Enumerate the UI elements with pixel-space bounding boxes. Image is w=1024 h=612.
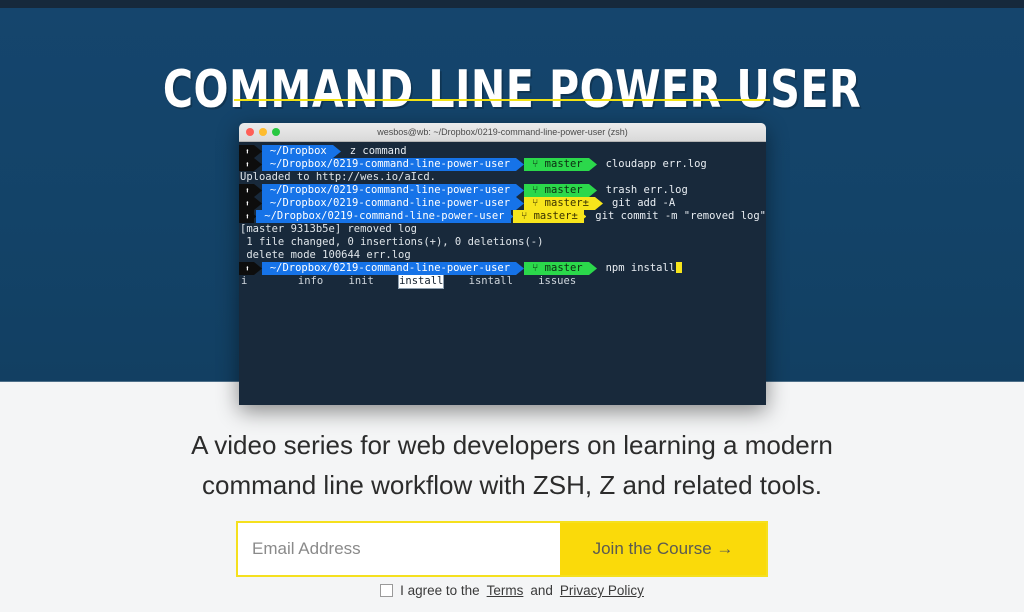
completion-gap [374, 275, 399, 287]
prompt-user-segment: ⬆ [239, 210, 254, 223]
prompt-user-segment: ⬆ [239, 145, 254, 158]
git-branch-label: master± [545, 197, 589, 210]
maximize-icon[interactable] [272, 128, 280, 136]
terms-checkbox[interactable] [380, 584, 393, 597]
terminal-output-line: [master 9313b5e] removed log [239, 223, 766, 236]
prompt-git-branch-segment: ⑂ master [524, 262, 589, 275]
powerline-arrow-icon [254, 197, 262, 210]
terminal-window: wesbos@wb: ~/Dropbox/0219-command-line-p… [239, 123, 766, 405]
terminal-user-icon: ⬆ [245, 262, 250, 275]
terminal-output-line: Uploaded to http://wes.io/aIcd. [239, 171, 766, 184]
powerline-arrow-icon [254, 145, 262, 158]
prompt-git-branch-segment: ⑂ master [524, 184, 589, 197]
completion-item[interactable]: isntall [469, 275, 513, 288]
minimize-icon[interactable] [259, 128, 267, 136]
terminal-prompt-line: ⬆~/Dropbox/0219-command-line-power-user⑂… [239, 197, 766, 210]
powerline-arrow-icon [254, 184, 262, 197]
terminal-window-title: wesbos@wb: ~/Dropbox/0219-command-line-p… [239, 123, 766, 141]
powerline-arrow-icon [516, 158, 524, 171]
terminal-titlebar: wesbos@wb: ~/Dropbox/0219-command-line-p… [239, 123, 766, 142]
powerline-arrow-icon [595, 197, 603, 210]
terminal-user-icon: ⬆ [245, 197, 250, 210]
powerline-arrow-icon [254, 158, 262, 171]
git-branch-label: master± [534, 210, 578, 223]
powerline-arrow-icon [333, 145, 341, 158]
git-branch-icon: ⑂ [521, 210, 534, 223]
prompt-path-segment: ~/Dropbox/0219-command-line-power-user [262, 197, 516, 210]
terminal-output-area: ⬆~/Dropboxz command⬆~/Dropbox/0219-comma… [239, 142, 766, 288]
git-branch-icon: ⑂ [532, 262, 545, 275]
terminal-command-text: git add -A [603, 197, 675, 210]
traffic-light-buttons[interactable] [246, 128, 280, 136]
terminal-command-text: trash err.log [597, 184, 688, 197]
subtitle-line-1: A video series for web developers on lea… [0, 425, 1024, 465]
terminal-output-text: Uploaded to http://wes.io/aIcd. [239, 171, 436, 184]
prompt-git-branch-segment: ⑂ master± [513, 210, 584, 223]
privacy-policy-link[interactable]: Privacy Policy [560, 583, 644, 598]
terminal-output-text: [master 9313b5e] removed log [239, 223, 417, 236]
prompt-path-segment: ~/Dropbox [262, 145, 333, 158]
git-branch-label: master [545, 184, 583, 197]
terms-prefix-label: I agree to the [400, 583, 480, 598]
completion-item[interactable]: info [298, 275, 323, 288]
prompt-user-segment: ⬆ [239, 197, 254, 210]
prompt-user-segment: ⬆ [239, 184, 254, 197]
top-navy-bar [0, 0, 1024, 8]
subtitle-line-2: command line workflow with ZSH, Z and re… [0, 465, 1024, 505]
completion-gap [323, 275, 348, 287]
signup-form: Join the Course → [236, 521, 768, 577]
git-branch-label: master [545, 262, 583, 275]
git-branch-label: master [545, 158, 583, 171]
powerline-arrow-icon [589, 262, 597, 275]
terminal-output-text: 1 file changed, 0 insertions(+), 0 delet… [239, 236, 543, 249]
terminal-user-icon: ⬆ [245, 184, 250, 197]
terminal-prompt-line: ⬆~/Dropbox/0219-command-line-power-user⑂… [239, 158, 766, 171]
powerline-arrow-icon [589, 184, 597, 197]
prompt-user-segment: ⬆ [239, 158, 254, 171]
terminal-command-text: npm install [597, 262, 676, 275]
completion-gap [247, 275, 298, 287]
terminal-user-icon: ⬆ [245, 158, 250, 171]
powerline-arrow-icon [516, 197, 524, 210]
completion-item[interactable]: issues [538, 275, 576, 288]
git-branch-icon: ⑂ [532, 184, 545, 197]
prompt-user-segment: ⬆ [239, 262, 254, 275]
powerline-arrow-icon [516, 184, 524, 197]
completion-gap [576, 275, 601, 287]
terminal-command-text: cloudapp err.log [597, 158, 707, 171]
email-input[interactable] [238, 523, 560, 575]
terminal-output-line: 1 file changed, 0 insertions(+), 0 delet… [239, 236, 766, 249]
terminal-command-text: z command [341, 145, 407, 158]
subtitle: A video series for web developers on lea… [0, 425, 1024, 505]
terms-link[interactable]: Terms [487, 583, 524, 598]
prompt-path-segment: ~/Dropbox/0219-command-line-power-user [256, 210, 510, 223]
terms-conjunction-label: and [530, 583, 553, 598]
prompt-git-branch-segment: ⑂ master± [524, 197, 595, 210]
close-icon[interactable] [246, 128, 254, 136]
terminal-output-line: delete mode 100644 err.log [239, 249, 766, 262]
terminal-output-text: delete mode 100644 err.log [239, 249, 411, 262]
prompt-path-segment: ~/Dropbox/0219-command-line-power-user [262, 158, 516, 171]
page-root: Command Line Power User wesbos@wb: ~/Dro… [0, 0, 1024, 612]
powerline-arrow-icon [516, 262, 524, 275]
terminal-command-text: git commit -m "removed log" [586, 210, 766, 223]
terminal-completion-row: i info init install isntall issues [239, 275, 766, 288]
completion-gap [443, 275, 468, 287]
powerline-arrow-icon [254, 262, 262, 275]
terminal-cursor [676, 262, 682, 273]
terminal-prompt-line: ⬆~/Dropboxz command [239, 145, 766, 158]
completion-item[interactable]: init [349, 275, 374, 288]
title-underline-rule [234, 99, 770, 101]
join-course-button[interactable]: Join the Course → [560, 523, 766, 575]
completion-item[interactable]: install [399, 275, 443, 288]
prompt-path-segment: ~/Dropbox/0219-command-line-power-user [262, 184, 516, 197]
git-branch-icon: ⑂ [532, 197, 545, 210]
terminal-prompt-line: ⬆~/Dropbox/0219-command-line-power-user⑂… [239, 210, 766, 223]
terminal-user-icon: ⬆ [245, 145, 250, 158]
prompt-git-branch-segment: ⑂ master [524, 158, 589, 171]
terminal-prompt-line: ⬆~/Dropbox/0219-command-line-power-user⑂… [239, 262, 766, 275]
terminal-prompt-line: ⬆~/Dropbox/0219-command-line-power-user⑂… [239, 184, 766, 197]
terms-agreement-row: I agree to the Terms and Privacy Policy [0, 583, 1024, 598]
prompt-path-segment: ~/Dropbox/0219-command-line-power-user [262, 262, 516, 275]
page-title: Command Line Power User [61, 59, 962, 121]
powerline-arrow-icon [589, 158, 597, 171]
terminal-user-icon: ⬆ [245, 210, 250, 223]
git-branch-icon: ⑂ [532, 158, 545, 171]
completion-gap [513, 275, 538, 287]
